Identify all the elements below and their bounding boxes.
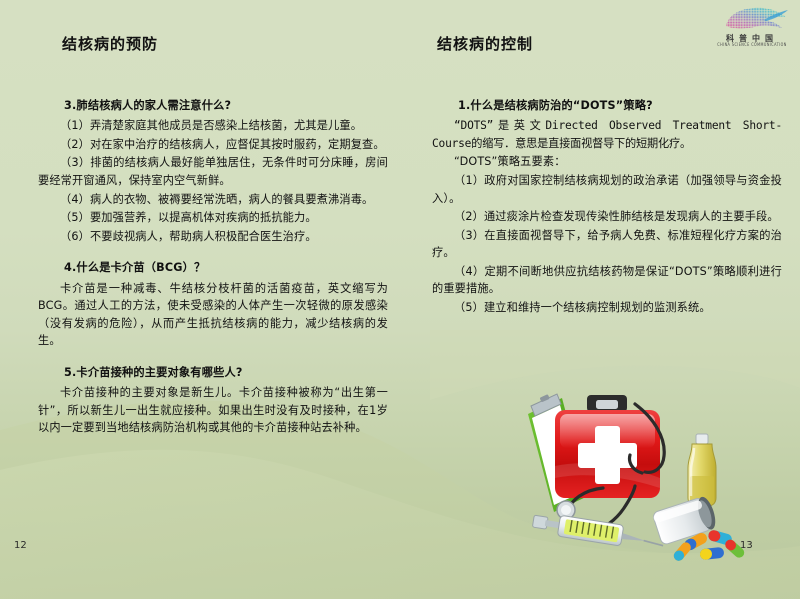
paragraph: （2）通过痰涂片检查发现传染性肺结核是发现病人的主要手段。	[432, 208, 782, 226]
syringe-icon	[532, 511, 666, 552]
question-heading: 5.卡介苗接种的主要对象有哪些人?	[38, 365, 388, 381]
paragraph: （3）在直接面视督导下，给予病人免费、标准短程化疗方案的治疗。	[432, 227, 782, 262]
question-heading: 1.什么是结核病防治的“DOTS”策略?	[432, 98, 782, 114]
question-heading: 4.什么是卡介苗（BCG）？	[38, 260, 388, 276]
paragraph: 卡介苗接种的主要对象是新生儿。卡介苗接种被称为“出生第一针”，所以新生儿一出生就…	[38, 384, 388, 437]
page-title-left: 结核病的预防	[62, 37, 158, 52]
pill-bottle-icon	[652, 495, 719, 546]
paragraph: （6）不要歧视病人，帮助病人积极配合医生治疗。	[38, 228, 388, 246]
question-heading: 3.肺结核病人的家人需注意什么?	[38, 98, 388, 114]
paragraph: （1）弄清楚家庭其他成员是否感染上结核菌，尤其是儿童。	[38, 117, 388, 135]
logo-english-text: CHINA SCIENCE COMMUNICATION	[712, 43, 792, 48]
right-page-content: 1.什么是结核病防治的“DOTS”策略? “DOTS”是英文Directed O…	[432, 98, 782, 318]
page-number-right: 13	[740, 540, 753, 551]
page-number-left: 12	[14, 540, 27, 551]
content-block: 1.什么是结核病防治的“DOTS”策略? “DOTS”是英文Directed O…	[432, 98, 782, 317]
paragraph: （5）要加强营养，以提高机体对疾病的抵抗能力。	[38, 209, 388, 227]
logo-bird-icon	[712, 6, 792, 34]
paragraph: （2）对在家中治疗的结核病人，应督促其按时服药，定期复查。	[38, 136, 388, 154]
paragraph: （4）病人的衣物、被褥要经常洗晒，病人的餐具要煮沸消毒。	[38, 191, 388, 209]
slide-page: 科普中国 CHINA SCIENCE COMMUNICATION 结核病的预防 …	[0, 0, 800, 599]
spacer	[38, 246, 388, 260]
paragraph: （5）建立和维持一个结核病控制规划的监测系统。	[432, 299, 782, 317]
spacer	[38, 351, 388, 365]
paragraph: （3）排菌的结核病人最好能单独居住，无条件时可分床睡，房间要经常开窗通风，保持室…	[38, 154, 388, 189]
medical-supplies-illustration	[484, 392, 784, 572]
logo: 科普中国 CHINA SCIENCE COMMUNICATION	[712, 6, 792, 51]
page-title-right: 结核病的控制	[437, 37, 533, 52]
medicine-bottle-icon	[688, 434, 716, 507]
left-page-content: 3.肺结核病人的家人需注意什么? （1）弄清楚家庭其他成员是否感染上结核菌，尤其…	[38, 98, 388, 438]
paragraph: 卡介苗是一种减毒、牛结核分枝杆菌的活菌疫苗，英文缩写为BCG。通过人工的方法，使…	[38, 280, 388, 350]
content-block: 4.什么是卡介苗（BCG）？ 卡介苗是一种减毒、牛结核分枝杆菌的活菌疫苗，英文缩…	[38, 260, 388, 350]
content-block: 5.卡介苗接种的主要对象有哪些人? 卡介苗接种的主要对象是新生儿。卡介苗接种被称…	[38, 365, 388, 437]
paragraph: “DOTS”策略五要素：	[432, 153, 782, 171]
paragraph: （1）政府对国家控制结核病规划的政治承诺（加强领导与资金投入）。	[432, 172, 782, 207]
content-block: 3.肺结核病人的家人需注意什么? （1）弄清楚家庭其他成员是否感染上结核菌，尤其…	[38, 98, 388, 245]
paragraph: “DOTS”是英文Directed Observed Treatment Sho…	[432, 117, 782, 152]
paragraph: （4）定期不间断地供应抗结核药物是保证“DOTS”策略顺利进行的重要措施。	[432, 263, 782, 298]
